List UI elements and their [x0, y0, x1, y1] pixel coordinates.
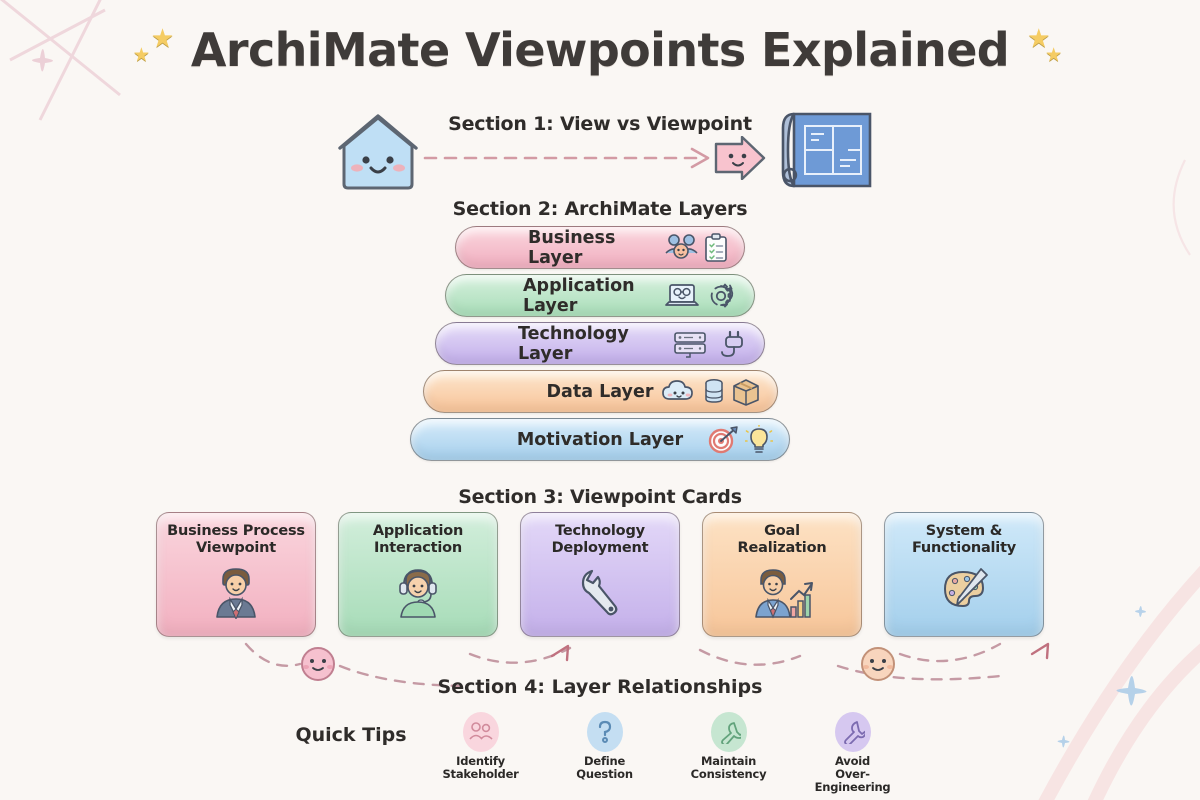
blueprint-icon — [778, 108, 878, 192]
title-row: ★ ★ ArchiMate Viewpoints Explained ★ ★ — [0, 22, 1200, 78]
layer-icons — [672, 329, 748, 359]
viewpoint-card-goal-realization[interactable]: GoalRealization — [702, 512, 862, 637]
wrench-icon — [571, 563, 629, 619]
target-icon — [707, 425, 739, 455]
quick-tip-define-question[interactable]: DefineQuestion — [553, 712, 657, 781]
section4-heading: Section 4: Layer Relationships — [0, 676, 1200, 698]
tip-badge — [711, 712, 747, 752]
arrow-face-icon — [716, 137, 764, 179]
viewpoint-card-application-interaction[interactable]: ApplicationInteraction — [338, 512, 498, 637]
layer-label: Data Layer — [547, 382, 654, 402]
layer-label: Motivation Layer — [517, 430, 683, 450]
viewpoint-card-technology-deployment[interactable]: TechnologyDeployment — [520, 512, 680, 637]
layer-label: Technology Layer — [518, 324, 682, 364]
layer-pill-application[interactable]: Application Layer — [445, 274, 755, 317]
gear-icon — [706, 281, 738, 311]
viewpoint-card-system-functionality[interactable]: System &Functionality — [884, 512, 1044, 637]
card-title: ApplicationInteraction — [373, 523, 463, 557]
infographic-canvas: ★ ★ ArchiMate Viewpoints Explained ★ ★ S… — [0, 0, 1200, 800]
tip-badge — [587, 712, 623, 752]
layer-icons — [664, 233, 728, 263]
layer-icons — [661, 377, 761, 407]
quick-tip-avoid-over-engineering[interactable]: AvoidOver-Engineering — [801, 712, 905, 795]
quick-tip-maintain-consistency[interactable]: MaintainConsistency — [677, 712, 781, 781]
card-title: Business ProcessViewpoint — [167, 523, 305, 557]
question-mark-icon — [594, 719, 616, 745]
quick-tips-row: Quick Tips IdentifyStakeholder — [0, 712, 1200, 795]
card-title: TechnologyDeployment — [552, 523, 649, 557]
layer-pill-motivation[interactable]: Motivation Layer — [410, 418, 790, 461]
layer-icons — [707, 425, 773, 455]
layer-pill-technology[interactable]: Technology Layer — [435, 322, 765, 365]
quick-tip-identify-stakeholder[interactable]: IdentifyStakeholder — [429, 712, 533, 781]
card-title: GoalRealization — [738, 523, 827, 557]
wrench-icon — [841, 720, 865, 744]
star-icon: ★ — [133, 44, 150, 66]
businessman-icon — [207, 563, 265, 619]
layer-label: Application Layer — [523, 276, 677, 316]
star-icon: ★ — [151, 24, 174, 54]
star-decoration-right: ★ ★ — [1023, 22, 1067, 78]
lightbulb-icon — [745, 425, 773, 455]
headset-agent-icon — [389, 563, 447, 619]
tip-badge — [835, 712, 871, 752]
section2-heading: Section 2: ArchiMate Layers — [0, 198, 1200, 220]
viewpoint-card-business-process[interactable]: Business ProcessViewpoint — [156, 512, 316, 637]
layers-stack: Business Layer — [0, 226, 1200, 466]
tip-text: AvoidOver-Engineering — [801, 755, 905, 795]
section3-heading: Section 3: Viewpoint Cards — [0, 486, 1200, 508]
layer-pill-business[interactable]: Business Layer — [455, 226, 745, 269]
star-decoration-left: ★ ★ — [133, 22, 177, 78]
stakeholders-icon — [468, 720, 494, 744]
tip-text: MaintainConsistency — [691, 755, 767, 781]
tip-text: IdentifyStakeholder — [442, 755, 518, 781]
layer-label: Business Layer — [528, 228, 672, 268]
tip-text: DefineQuestion — [576, 755, 633, 781]
section1-connector-arrow — [420, 136, 770, 180]
clipboard-icon — [704, 233, 728, 263]
database-icon — [703, 377, 725, 407]
quick-tips-label: Quick Tips — [295, 724, 406, 746]
card-title: System &Functionality — [912, 523, 1016, 557]
cloud-icon — [661, 378, 697, 406]
star-icon: ★ — [1045, 44, 1062, 66]
layer-pill-data[interactable]: Data Layer — [423, 370, 778, 413]
wrench-icon — [717, 720, 741, 744]
palette-icon — [935, 563, 993, 619]
growth-chart-person-icon — [751, 563, 813, 619]
box-icon — [731, 377, 761, 407]
page-title: ArchiMate Viewpoints Explained — [191, 23, 1009, 77]
section1-heading: Section 1: View vs Viewpoint — [0, 113, 1200, 135]
house-icon — [332, 108, 424, 194]
plug-icon — [718, 329, 748, 359]
tip-badge — [463, 712, 499, 752]
viewpoint-cards: Business ProcessViewpoint ApplicationInt… — [0, 512, 1200, 637]
